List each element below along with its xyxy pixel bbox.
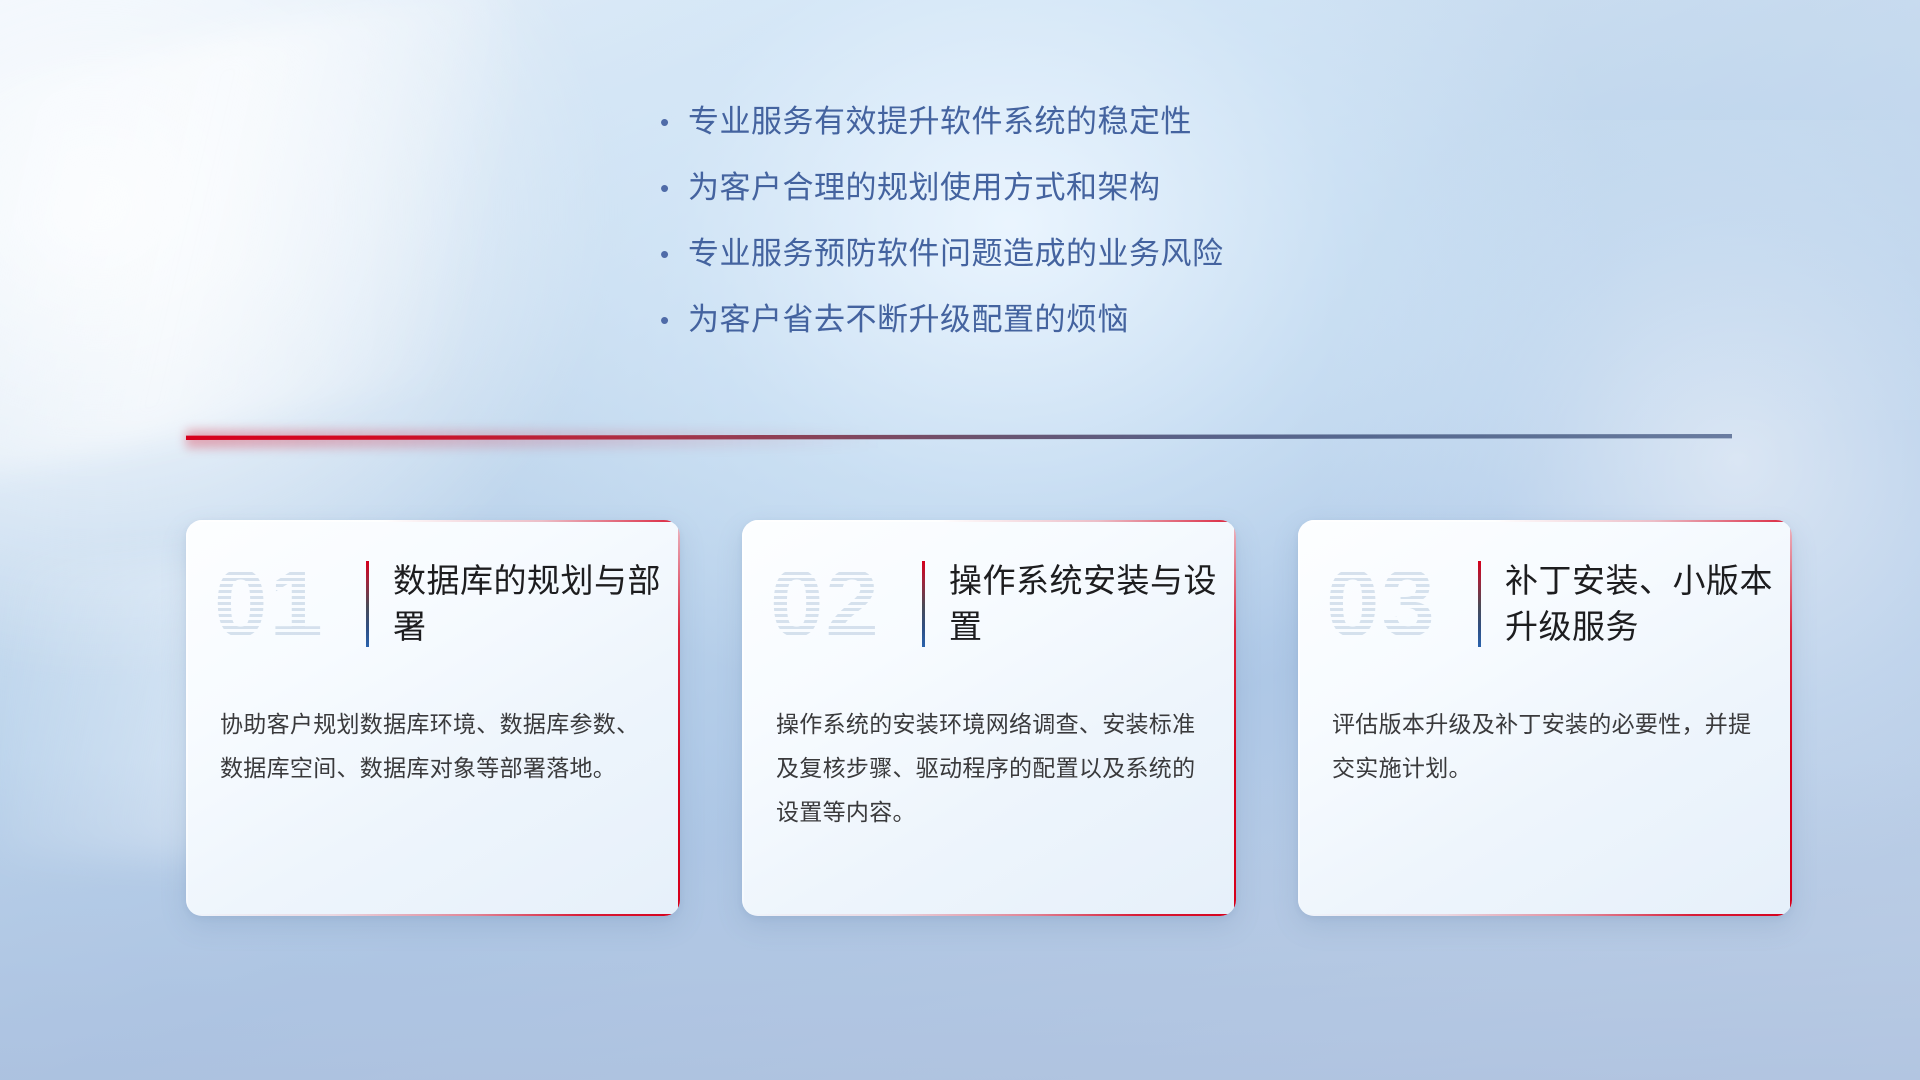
card-description: 协助客户规划数据库环境、数据库参数、数据库空间、数据库对象等部署落地。 xyxy=(186,688,680,790)
bullet-dot-icon: • xyxy=(660,298,688,342)
card-edge-bottom xyxy=(742,914,1236,917)
card-header: 02 操作系统安装与设置 xyxy=(742,520,1236,688)
card-edge-bottom xyxy=(186,914,680,917)
service-card-01[interactable]: 01 数据库的规划与部署 协助客户规划数据库环境、数据库参数、数据库空间、数据库… xyxy=(186,520,680,916)
card-number-watermark: 02 xyxy=(770,548,922,660)
service-card-03[interactable]: 03 补丁安装、小版本升级服务 评估版本升级及补丁安装的必要性，并提交实施计划。 xyxy=(1298,520,1792,916)
card-number-watermark: 01 xyxy=(214,548,366,660)
list-item: • 专业服务预防软件问题造成的业务风险 xyxy=(660,232,1560,278)
list-item: • 为客户合理的规划使用方式和架构 xyxy=(660,166,1560,212)
list-item: • 专业服务有效提升软件系统的稳定性 xyxy=(660,100,1560,146)
card-vertical-rule xyxy=(1478,561,1481,647)
service-card-group: 01 数据库的规划与部署 协助客户规划数据库环境、数据库参数、数据库空间、数据库… xyxy=(186,520,1792,916)
bullet-dot-icon: • xyxy=(660,100,688,144)
card-edge-bottom xyxy=(1298,914,1792,917)
card-description: 操作系统的安装环境网络调查、安装标准及复核步骤、驱动程序的配置以及系统的设置等内… xyxy=(742,688,1236,834)
list-item-label: 为客户合理的规划使用方式和架构 xyxy=(688,166,1161,210)
card-header: 03 补丁安装、小版本升级服务 xyxy=(1298,520,1792,688)
service-card-02[interactable]: 02 操作系统安装与设置 操作系统的安装环境网络调查、安装标准及复核步骤、驱动程… xyxy=(742,520,1236,916)
list-item: • 为客户省去不断升级配置的烦恼 xyxy=(660,298,1560,344)
card-title: 补丁安装、小版本升级服务 xyxy=(1505,558,1792,650)
list-item-label: 专业服务预防软件问题造成的业务风险 xyxy=(688,232,1224,276)
card-title: 操作系统安装与设置 xyxy=(949,558,1236,650)
card-title: 数据库的规划与部署 xyxy=(393,558,680,650)
list-item-label: 为客户省去不断升级配置的烦恼 xyxy=(688,298,1129,342)
card-header: 01 数据库的规划与部署 xyxy=(186,520,680,688)
card-number-watermark: 03 xyxy=(1326,548,1478,660)
bullet-dot-icon: • xyxy=(660,166,688,210)
benefits-bullet-list: • 专业服务有效提升软件系统的稳定性 • 为客户合理的规划使用方式和架构 • 专… xyxy=(660,100,1560,364)
list-item-label: 专业服务有效提升软件系统的稳定性 xyxy=(688,100,1192,144)
card-description: 评估版本升级及补丁安装的必要性，并提交实施计划。 xyxy=(1298,688,1792,790)
card-vertical-rule xyxy=(366,561,369,647)
bullet-dot-icon: • xyxy=(660,232,688,276)
card-vertical-rule xyxy=(922,561,925,647)
section-divider xyxy=(186,430,1732,448)
